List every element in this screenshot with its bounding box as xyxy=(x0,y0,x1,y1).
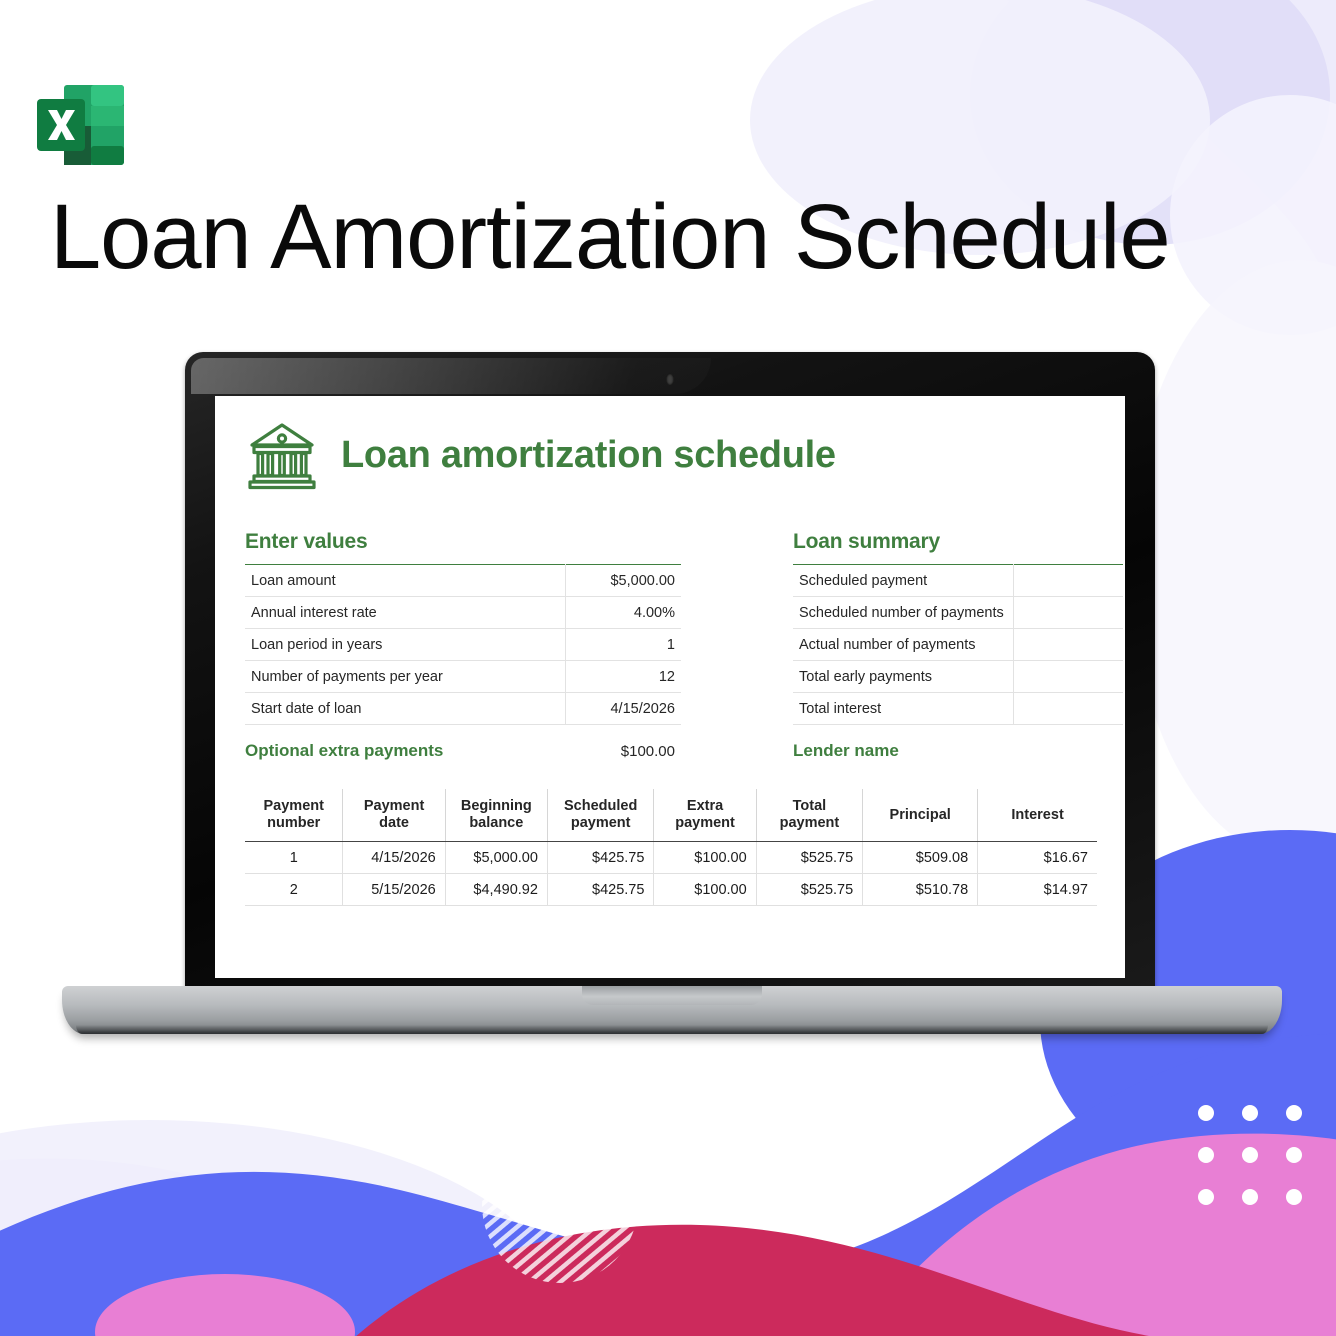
laptop-base-notch xyxy=(582,986,762,1005)
enter-values-panel: Enter values Loan amount $5,000.00 Annua… xyxy=(245,530,681,761)
row-value[interactable]: 12 xyxy=(565,661,681,693)
row-value[interactable] xyxy=(1013,629,1123,661)
laptop-screen: Loan amortization schedule Enter values … xyxy=(215,396,1125,978)
cell-payment-number[interactable]: 1 xyxy=(245,842,343,874)
column-header-scheduled-payment[interactable]: Scheduled payment xyxy=(547,789,654,842)
lender-name-label: Lender name xyxy=(793,741,899,761)
amortization-schedule-table: Payment number Payment date Beginning ba… xyxy=(245,789,1097,906)
column-header-payment-number[interactable]: Payment number xyxy=(245,789,343,842)
row-value[interactable] xyxy=(1013,597,1123,629)
row-value[interactable]: 1 xyxy=(565,629,681,661)
row-label: Annual interest rate xyxy=(245,597,565,629)
optional-extra-payments-value[interactable]: $100.00 xyxy=(621,743,681,760)
table-row: Loan amount $5,000.00 xyxy=(245,565,681,597)
optional-extra-payments-label: Optional extra payments xyxy=(245,741,443,761)
table-row: Scheduled payment xyxy=(793,565,1123,597)
column-header-principal[interactable]: Principal xyxy=(863,789,978,842)
laptop-lid: Loan amortization schedule Enter values … xyxy=(185,352,1155,992)
cell-interest[interactable]: $14.97 xyxy=(978,874,1097,906)
cell-scheduled-payment[interactable]: $425.75 xyxy=(547,842,654,874)
table-row: 1 4/15/2026 $5,000.00 $425.75 $100.00 $5… xyxy=(245,842,1097,874)
column-header-total-payment[interactable]: Total payment xyxy=(756,789,863,842)
column-header-beginning-balance[interactable]: Beginning balance xyxy=(445,789,547,842)
cell-payment-number[interactable]: 2 xyxy=(245,874,343,906)
cell-beginning-balance[interactable]: $4,490.92 xyxy=(445,874,547,906)
loan-summary-panel: Loan summary Scheduled payment Scheduled… xyxy=(793,530,1123,761)
spreadsheet-title: Loan amortization schedule xyxy=(341,436,836,474)
table-row: Total interest xyxy=(793,693,1123,725)
table-row: Scheduled number of payments xyxy=(793,597,1123,629)
spreadsheet-header: Loan amortization schedule xyxy=(245,418,1097,492)
laptop-device: Loan amortization schedule Enter values … xyxy=(62,352,1282,1052)
cell-payment-date[interactable]: 5/15/2026 xyxy=(343,874,445,906)
row-value[interactable]: 4/15/2026 xyxy=(565,693,681,725)
table-header-row: Payment number Payment date Beginning ba… xyxy=(245,789,1097,842)
enter-values-title: Enter values xyxy=(245,530,681,554)
loan-summary-table: Scheduled payment Scheduled number of pa… xyxy=(793,564,1123,725)
table-row: Start date of loan 4/15/2026 xyxy=(245,693,681,725)
excel-icon xyxy=(33,82,129,168)
row-label: Actual number of payments xyxy=(793,629,1013,661)
row-label: Total interest xyxy=(793,693,1013,725)
table-row: Loan period in years 1 xyxy=(245,629,681,661)
table-row: Number of payments per year 12 xyxy=(245,661,681,693)
cell-extra-payment[interactable]: $100.00 xyxy=(654,874,756,906)
page-title: Loan Amortization Schedule xyxy=(50,186,1320,289)
row-value[interactable]: 4.00% xyxy=(565,597,681,629)
cell-principal[interactable]: $510.78 xyxy=(863,874,978,906)
cell-total-payment[interactable]: $525.75 xyxy=(756,874,863,906)
cell-payment-date[interactable]: 4/15/2026 xyxy=(343,842,445,874)
row-label: Loan amount xyxy=(245,565,565,597)
bank-building-icon xyxy=(245,418,319,492)
table-row: Total early payments xyxy=(793,661,1123,693)
row-value[interactable] xyxy=(1013,565,1123,597)
row-value[interactable] xyxy=(1013,661,1123,693)
panel-spacer xyxy=(681,530,793,761)
table-row: 2 5/15/2026 $4,490.92 $425.75 $100.00 $5… xyxy=(245,874,1097,906)
screen-glare xyxy=(191,358,711,394)
loan-summary-title: Loan summary xyxy=(793,530,1123,554)
lender-name-row: Lender name xyxy=(793,741,1123,761)
table-row: Annual interest rate 4.00% xyxy=(245,597,681,629)
row-label: Total early payments xyxy=(793,661,1013,693)
enter-values-table: Loan amount $5,000.00 Annual interest ra… xyxy=(245,564,681,725)
cell-interest[interactable]: $16.67 xyxy=(978,842,1097,874)
table-row: Actual number of payments xyxy=(793,629,1123,661)
column-header-interest[interactable]: Interest xyxy=(978,789,1097,842)
cell-extra-payment[interactable]: $100.00 xyxy=(654,842,756,874)
cell-scheduled-payment[interactable]: $425.75 xyxy=(547,874,654,906)
spreadsheet-content: Loan amortization schedule Enter values … xyxy=(215,396,1125,978)
row-label: Number of payments per year xyxy=(245,661,565,693)
row-label: Start date of loan xyxy=(245,693,565,725)
row-value[interactable] xyxy=(1013,693,1123,725)
laptop-base-lip xyxy=(76,1025,1268,1034)
laptop-base xyxy=(62,986,1282,1034)
cell-beginning-balance[interactable]: $5,000.00 xyxy=(445,842,547,874)
row-value[interactable]: $5,000.00 xyxy=(565,565,681,597)
row-label: Loan period in years xyxy=(245,629,565,661)
column-header-extra-payment[interactable]: Extra payment xyxy=(654,789,756,842)
row-label: Scheduled number of payments xyxy=(793,597,1013,629)
panels-row: Enter values Loan amount $5,000.00 Annua… xyxy=(245,530,1097,761)
row-label: Scheduled payment xyxy=(793,565,1013,597)
column-header-payment-date[interactable]: Payment date xyxy=(343,789,445,842)
cell-total-payment[interactable]: $525.75 xyxy=(756,842,863,874)
cell-principal[interactable]: $509.08 xyxy=(863,842,978,874)
webcam-icon xyxy=(667,374,674,385)
optional-extra-payments-row: Optional extra payments $100.00 xyxy=(245,741,681,761)
